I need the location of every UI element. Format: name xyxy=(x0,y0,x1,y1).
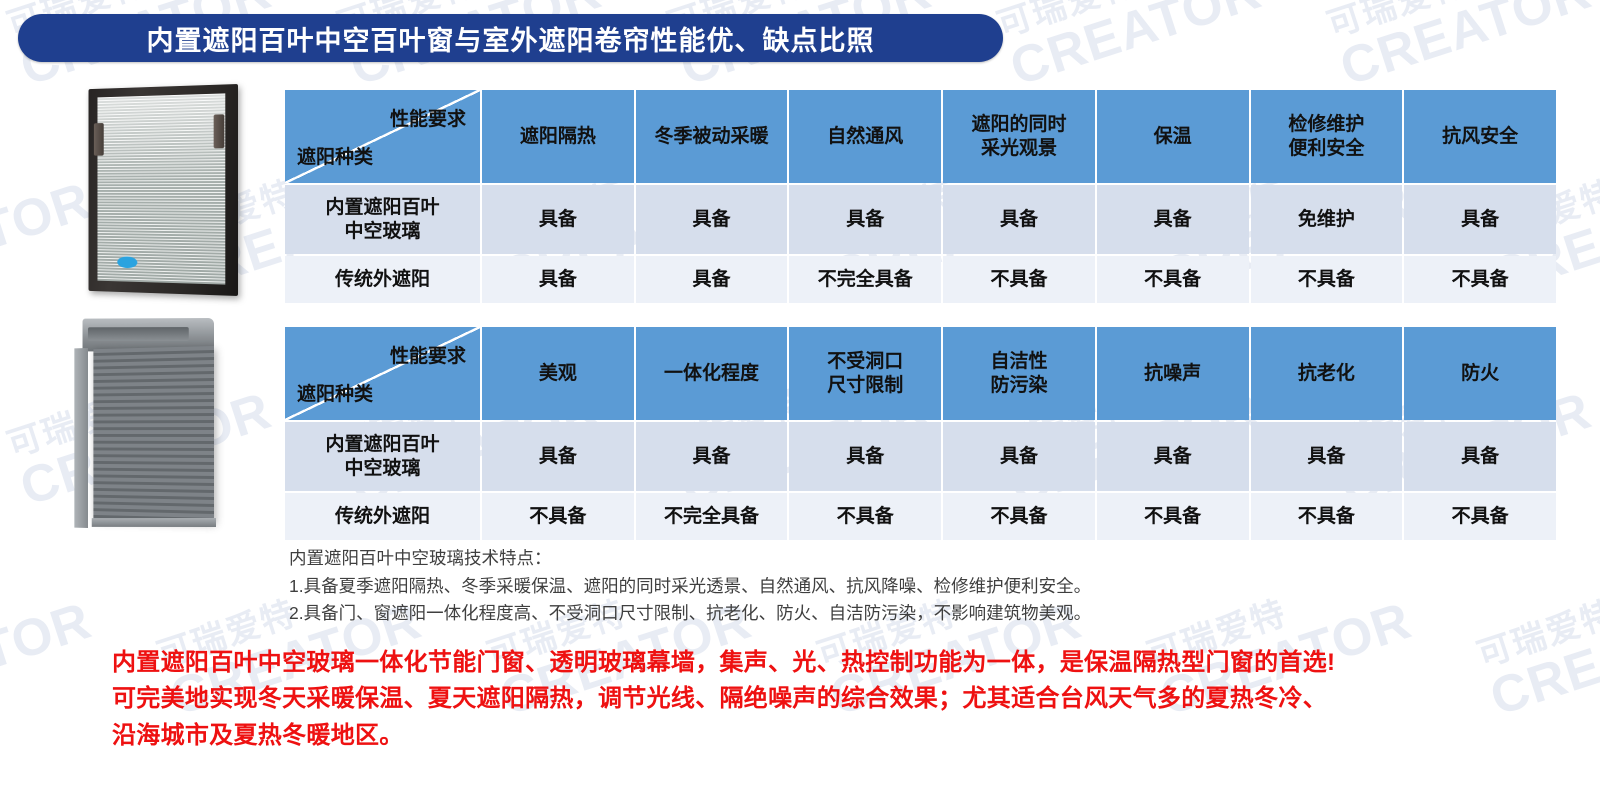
table-1-cell: 具备 xyxy=(943,185,1095,254)
table-1-col-header: 抗风安全 xyxy=(1404,90,1556,183)
table-1-col-header: 遮阳隔热 xyxy=(482,90,634,183)
table-2-cell: 不具备 xyxy=(1097,493,1249,540)
table-2-cell: 不具备 xyxy=(789,493,941,540)
table-2-cell: 不具备 xyxy=(943,493,1095,540)
table-1-cell: 免维护 xyxy=(1251,185,1403,254)
table-1-cell: 具备 xyxy=(1097,185,1249,254)
window-glass xyxy=(97,93,225,284)
corner-label-bottom: 遮阳种类 xyxy=(297,383,373,406)
conclusion-line-2: 可完美地实现冬天采暖保温、夏天遮阳隔热，调节光线、隔绝噪声的综合效果；尤其适合台… xyxy=(112,681,1572,717)
table-2-cell: 不具备 xyxy=(1251,493,1403,540)
table-2-cell: 具备 xyxy=(1251,422,1403,491)
table-2-col-header: 抗噪声 xyxy=(1097,327,1249,420)
shutter-curtain xyxy=(93,346,214,522)
page-title: 内置遮阳百叶中空百叶窗与室外遮阳卷帘性能优、缺点比照 xyxy=(147,19,875,58)
table-2-head: 性能要求 遮阳种类 美观 一体化程度 不受洞口 尺寸限制 自洁性 防污染 抗噪声… xyxy=(285,327,1556,420)
table-2-cell: 具备 xyxy=(943,422,1095,491)
diagonal-divider-icon xyxy=(285,327,480,420)
notes-heading: 内置遮阳百叶中空玻璃技术特点： xyxy=(289,545,1469,573)
table-1-cell: 具备 xyxy=(482,256,634,303)
table-1-cell: 具备 xyxy=(1404,185,1556,254)
table-1-header-row: 性能要求 遮阳种类 遮阳隔热 冬季被动采暖 自然通风 遮阳的同时 采光观景 保温… xyxy=(285,90,1556,183)
table-2-corner-cell: 性能要求 遮阳种类 xyxy=(285,327,480,420)
conclusion-line-1: 内置遮阳百叶中空玻璃一体化节能门窗、透明玻璃幕墙，集声、光、热控制功能为一体，是… xyxy=(112,645,1572,681)
table-1-row-label: 传统外遮阳 xyxy=(285,256,480,303)
comparison-table-2: 性能要求 遮阳种类 美观 一体化程度 不受洞口 尺寸限制 自洁性 防污染 抗噪声… xyxy=(283,325,1558,542)
table-row: 内置遮阳百叶 中空玻璃 具备 具备 具备 具备 具备 免维护 具备 xyxy=(285,185,1556,254)
table-1-col-header: 检修维护 便利安全 xyxy=(1251,90,1403,183)
table-2-cell: 具备 xyxy=(1404,422,1556,491)
table-row: 传统外遮阳 具备 具备 不完全具备 不具备 不具备 不具备 不具备 xyxy=(285,256,1556,303)
table-row: 传统外遮阳 不具备 不完全具备 不具备 不具备 不具备 不具备 不具备 xyxy=(285,493,1556,540)
table-1-cell: 不具备 xyxy=(1097,256,1249,303)
table-1-cell: 具备 xyxy=(482,185,634,254)
table-1-cell: 不具备 xyxy=(1251,256,1403,303)
glass-gloss xyxy=(97,93,225,179)
table-2-col-header: 防火 xyxy=(1404,327,1556,420)
table-1-col-header: 保温 xyxy=(1097,90,1249,183)
table-2-col-header: 自洁性 防污染 xyxy=(943,327,1095,420)
notes-line-2: 2.具备门、窗遮阳一体化程度高、不受洞口尺寸限制、抗老化、防火、自洁防污染，不影… xyxy=(289,600,1469,628)
table-2-cell: 不完全具备 xyxy=(636,493,788,540)
table-2-body: 内置遮阳百叶 中空玻璃 具备 具备 具备 具备 具备 具备 具备 传统外遮阳 不… xyxy=(285,422,1556,540)
table-2-col-header: 抗老化 xyxy=(1251,327,1403,420)
window-hinge-right xyxy=(214,114,225,148)
table-2-cell: 具备 xyxy=(482,422,634,491)
table-row: 内置遮阳百叶 中空玻璃 具备 具备 具备 具备 具备 具备 具备 xyxy=(285,422,1556,491)
table-1-head: 性能要求 遮阳种类 遮阳隔热 冬季被动采暖 自然通风 遮阳的同时 采光观景 保温… xyxy=(285,90,1556,183)
comparison-table-1: 性能要求 遮阳种类 遮阳隔热 冬季被动采暖 自然通风 遮阳的同时 采光观景 保温… xyxy=(283,88,1558,305)
corner-label-bottom: 遮阳种类 xyxy=(297,146,373,169)
window-hinge-left xyxy=(94,123,104,156)
table-1-cell: 具备 xyxy=(636,185,788,254)
table-2-cell: 不具备 xyxy=(482,493,634,540)
corner-label-top: 性能要求 xyxy=(390,345,466,368)
product-image-inner-blind-window xyxy=(78,84,238,296)
table-2-header-row: 性能要求 遮阳种类 美观 一体化程度 不受洞口 尺寸限制 自洁性 防污染 抗噪声… xyxy=(285,327,1556,420)
table-2-cell: 具备 xyxy=(1097,422,1249,491)
table-1-row-label: 内置遮阳百叶 中空玻璃 xyxy=(285,185,480,254)
table-1-cell: 具备 xyxy=(789,185,941,254)
table-2-col-header: 一体化程度 xyxy=(636,327,788,420)
table-2-cell: 具备 xyxy=(636,422,788,491)
brand-badge-icon xyxy=(117,256,137,268)
table-2-col-header: 美观 xyxy=(482,327,634,420)
table-1-col-header: 冬季被动采暖 xyxy=(636,90,788,183)
slide-page: 内置遮阳百叶中空百叶窗与室外遮阳卷帘性能优、缺点比照 性能要求 xyxy=(0,0,1600,792)
table-2-cell: 不具备 xyxy=(1404,493,1556,540)
table-2-row-label: 传统外遮阳 xyxy=(285,493,480,540)
shutter-headbox-face xyxy=(88,327,189,341)
diagonal-divider-icon xyxy=(285,90,480,183)
table-2-row-label: 内置遮阳百叶 中空玻璃 xyxy=(285,422,480,491)
table-1-cell: 不具备 xyxy=(943,256,1095,303)
table-2-col-header: 不受洞口 尺寸限制 xyxy=(789,327,941,420)
table-1-col-header: 自然通风 xyxy=(789,90,941,183)
shutter-side-rail xyxy=(74,348,88,528)
table-1-corner-cell: 性能要求 遮阳种类 xyxy=(285,90,480,183)
table-1-cell: 不具备 xyxy=(1404,256,1556,303)
product-image-roller-shutter xyxy=(62,312,242,544)
table-1-cell: 具备 xyxy=(636,256,788,303)
table-1-body: 内置遮阳百叶 中空玻璃 具备 具备 具备 具备 具备 免维护 具备 传统外遮阳 … xyxy=(285,185,1556,303)
technical-notes: 内置遮阳百叶中空玻璃技术特点： 1.具备夏季遮阳隔热、冬季采暖保温、遮阳的同时采… xyxy=(289,545,1469,628)
conclusion-text: 内置遮阳百叶中空玻璃一体化节能门窗、透明玻璃幕墙，集声、光、热控制功能为一体，是… xyxy=(112,645,1572,754)
notes-line-1: 1.具备夏季遮阳隔热、冬季采暖保温、遮阳的同时采光透景、自然通风、抗风降噪、检修… xyxy=(289,573,1469,601)
page-title-bar: 内置遮阳百叶中空百叶窗与室外遮阳卷帘性能优、缺点比照 xyxy=(18,14,1003,62)
corner-label-top: 性能要求 xyxy=(390,108,466,131)
shutter-bottom-rail xyxy=(92,518,216,527)
table-2-cell: 具备 xyxy=(789,422,941,491)
table-1-cell: 不完全具备 xyxy=(789,256,941,303)
conclusion-line-3: 沿海城市及夏热冬暖地区。 xyxy=(112,718,1572,754)
table-1-col-header: 遮阳的同时 采光观景 xyxy=(943,90,1095,183)
window-frame xyxy=(89,84,238,296)
